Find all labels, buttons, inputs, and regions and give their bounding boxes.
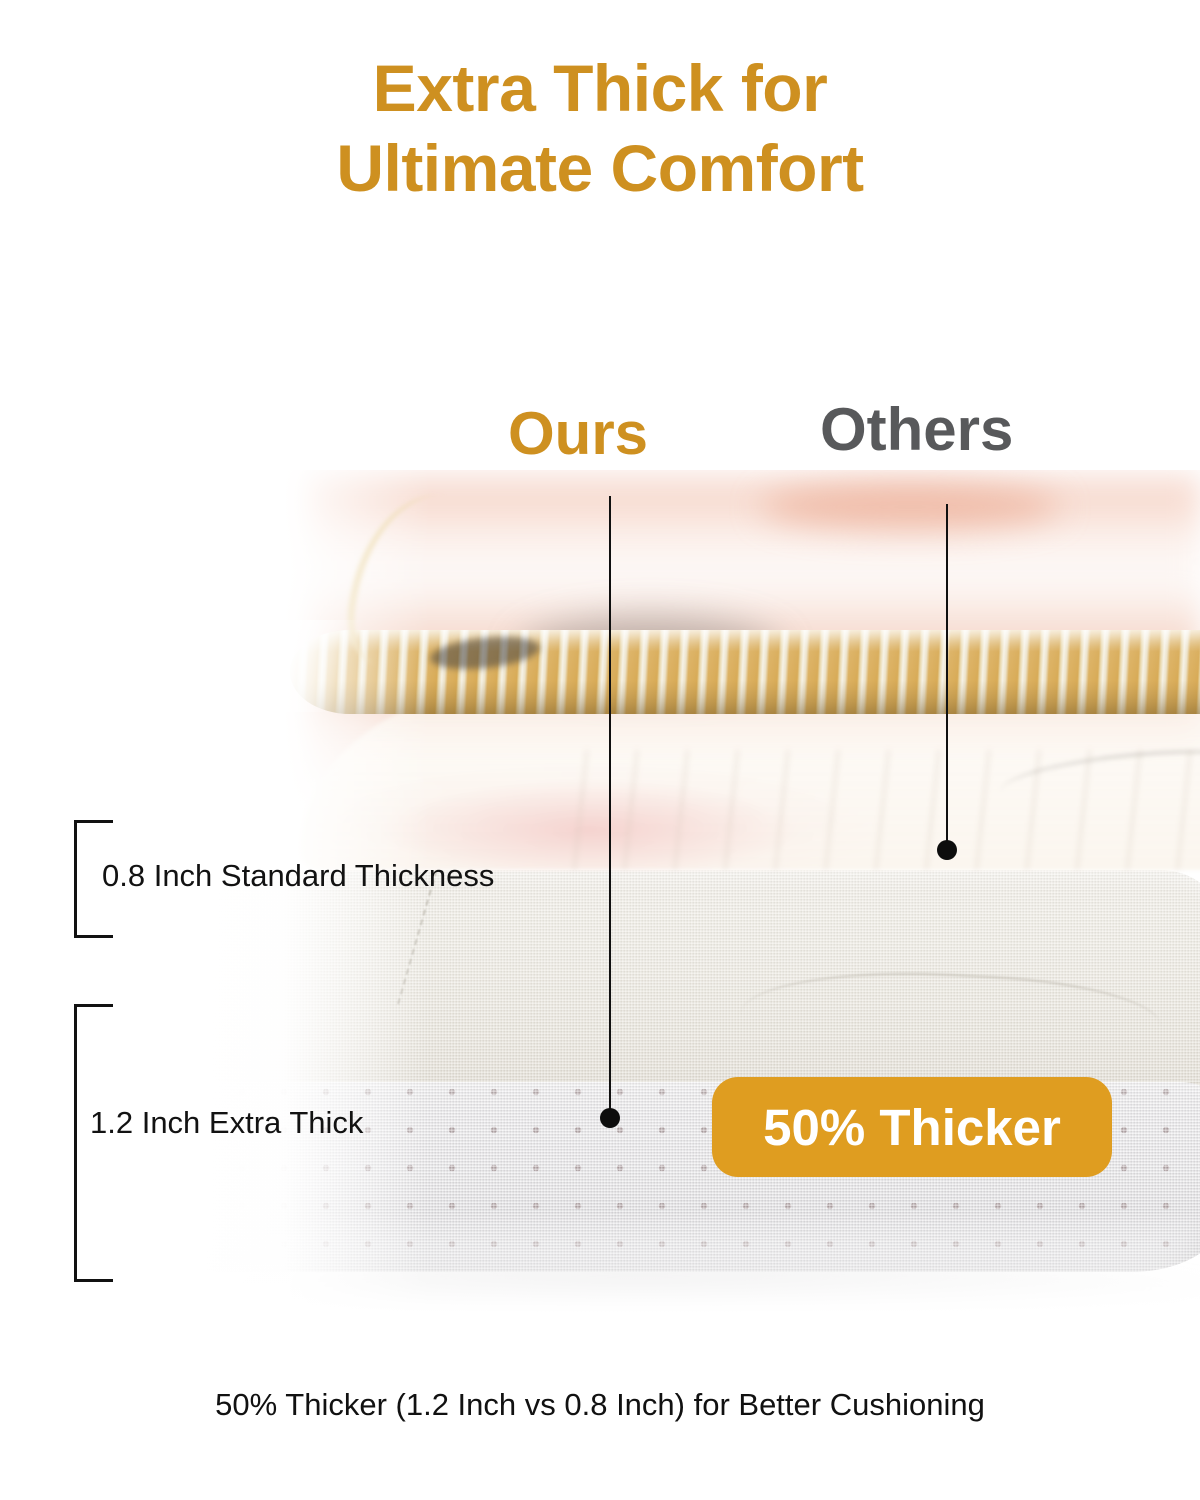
page-title-line-1: Extra Thick for — [0, 48, 1200, 128]
extra-thickness-bracket — [74, 1004, 113, 1282]
infographic-root: Extra Thick for Ultimate Comfort Ours Ot… — [0, 0, 1200, 1500]
footer-caption: 50% Thicker (1.2 Inch vs 0.8 Inch) for B… — [0, 1386, 1200, 1424]
others-leader-dot — [937, 840, 957, 860]
ours-leader-dot — [600, 1108, 620, 1128]
thicker-badge-text: 50% Thicker — [763, 1102, 1061, 1153]
ours-leader-line — [609, 496, 611, 1116]
standard-thickness-label: 0.8 Inch Standard Thickness — [102, 859, 494, 893]
others-leader-line — [946, 504, 948, 849]
page-title-line-2: Ultimate Comfort — [0, 128, 1200, 208]
ours-label: Ours — [508, 404, 648, 464]
page-title: Extra Thick for Ultimate Comfort — [0, 48, 1200, 208]
thicker-badge: 50% Thicker — [712, 1077, 1112, 1177]
background-blur-blob-secondary — [760, 484, 1060, 530]
extra-thickness-label: 1.2 Inch Extra Thick — [90, 1106, 363, 1140]
others-label: Others — [820, 400, 1013, 460]
photo-bottom-white-fade — [0, 1210, 1200, 1315]
